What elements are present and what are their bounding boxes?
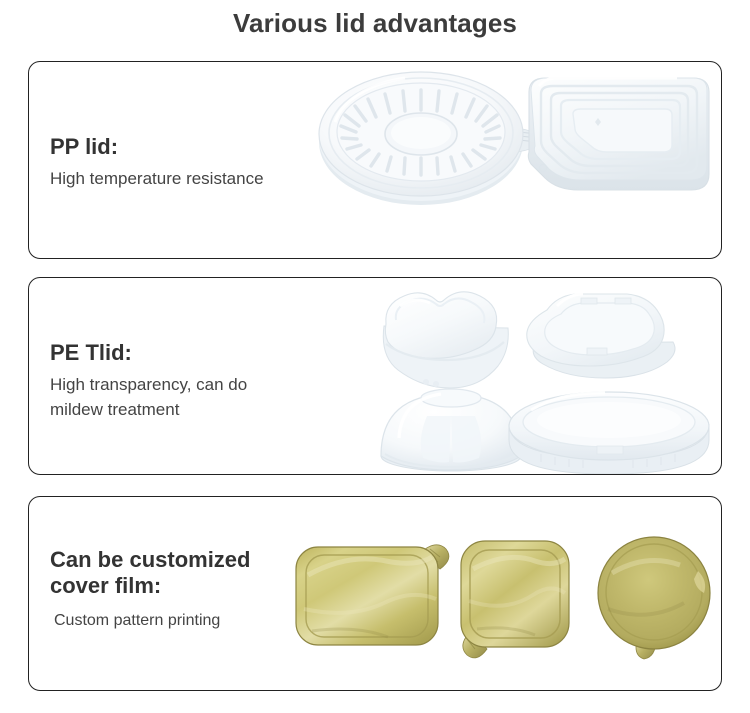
pp-lid-heading: PP lid: xyxy=(50,134,264,160)
cover-film-heading: Can be customized cover film: xyxy=(50,547,250,599)
pe-lid-body: High transparency, can do mildew treatme… xyxy=(50,372,247,423)
card-cover-film: Can be customized cover film: Custom pat… xyxy=(28,496,722,691)
square-gold-foil-lid-graphic xyxy=(461,541,569,658)
pp-lid-body: High temperature resistance xyxy=(50,166,264,192)
page-title: Various lid advantages xyxy=(0,8,750,39)
cover-film-body: Custom pattern printing xyxy=(50,605,250,633)
rectangular-pp-lid-graphic xyxy=(528,78,709,190)
pe-lid-text-block: PE Tlid: High transparency, can do milde… xyxy=(50,340,247,423)
rectangular-gold-foil-lid-graphic xyxy=(296,545,449,645)
card-pp-lid: PP lid: High temperature resistance xyxy=(28,61,722,259)
pe-lid-heading: PE Tlid: xyxy=(50,340,247,366)
dome-cup-lid-graphic xyxy=(381,389,521,471)
card-pe-lid: PE Tlid: High transparency, can do milde… xyxy=(28,277,722,475)
square-flat-lid-graphic xyxy=(527,294,675,378)
round-gold-foil-lid-graphic xyxy=(598,537,710,659)
round-pp-lid-graphic xyxy=(319,72,541,205)
oval-shallow-lid-graphic xyxy=(509,392,709,474)
cover-film-text-block: Can be customized cover film: Custom pat… xyxy=(50,547,250,633)
heart-dome-lid-graphic xyxy=(383,292,508,388)
pp-lid-text-block: PP lid: High temperature resistance xyxy=(50,134,264,191)
